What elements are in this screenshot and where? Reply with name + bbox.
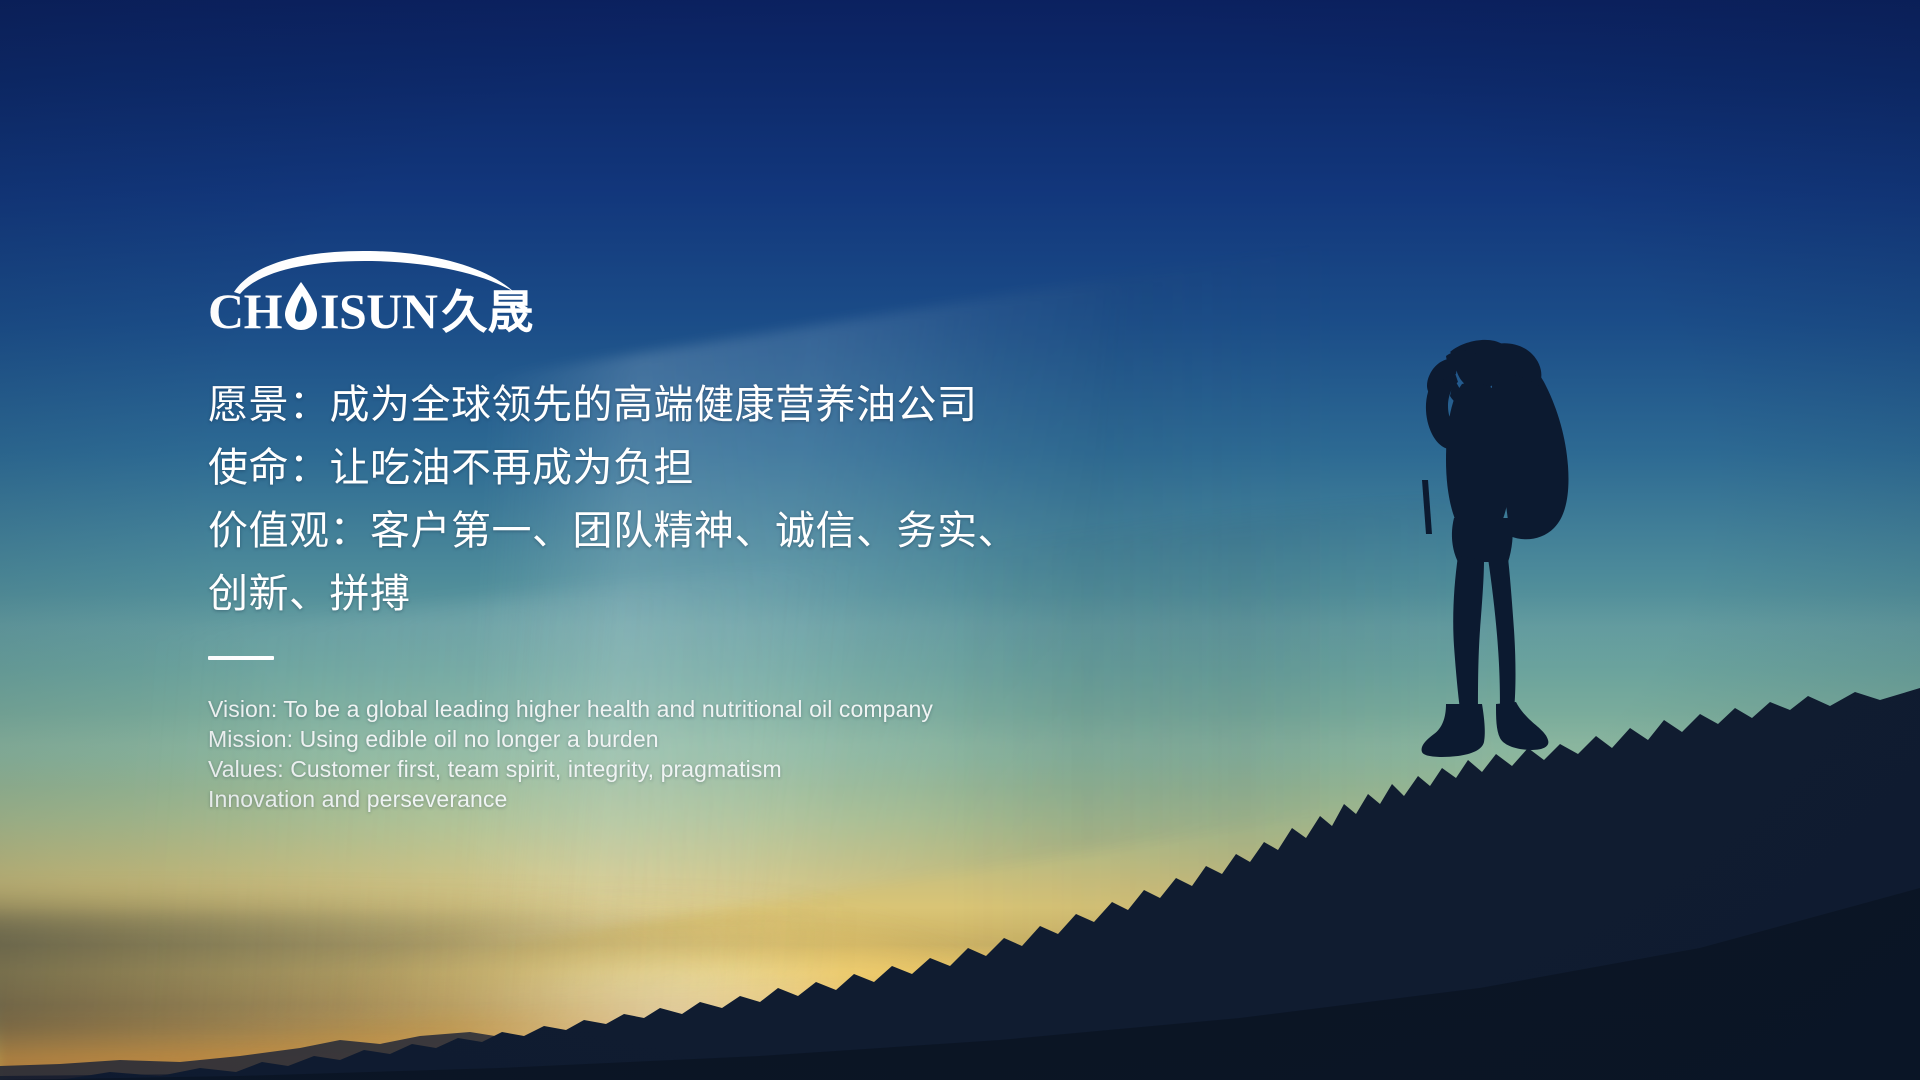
chinese-statement: 愿景：成为全球领先的高端健康营养油公司 使命：让吃油不再成为负担 价值观：客户第… bbox=[208, 374, 1068, 626]
logo-text-prefix: CH bbox=[208, 286, 282, 336]
mission-line-en: Mission: Using edible oil no longer a bu… bbox=[208, 724, 1108, 754]
logo-text-suffix: ISUN bbox=[320, 286, 437, 336]
mission-line-cn: 使命：让吃油不再成为负担 bbox=[208, 437, 1068, 500]
values-line-cn-continued: 创新、拼搏 bbox=[208, 563, 1068, 626]
oil-droplet-shape bbox=[283, 281, 319, 331]
values-line-cn: 价值观：客户第一、团队精神、诚信、务实、 bbox=[208, 500, 1068, 563]
hiker-silhouette-shape bbox=[1396, 338, 1601, 770]
logo-chinese-name: 久晟 bbox=[441, 290, 533, 336]
values-line-en: Values: Customer first, team spirit, int… bbox=[208, 754, 1108, 784]
slide-canvas: CH ISUN 久晟 愿景：成为全球领先的高端健康营养油公司 使命：让吃油不再成… bbox=[0, 0, 1920, 1080]
brand-logo[interactable]: CH ISUN 久晟 bbox=[208, 250, 548, 338]
vision-line-cn: 愿景：成为全球领先的高端健康营养油公司 bbox=[208, 374, 1068, 437]
logo-wordmark: CH ISUN 久晟 bbox=[208, 278, 533, 334]
hiker-silhouette bbox=[1396, 338, 1601, 770]
vision-line-en: Vision: To be a global leading higher he… bbox=[208, 694, 1108, 724]
english-statement: Vision: To be a global leading higher he… bbox=[208, 694, 1108, 814]
oil-droplet-icon bbox=[283, 281, 319, 331]
innovation-line-en: Innovation and perseverance bbox=[208, 784, 1108, 814]
content-block: CH ISUN 久晟 愿景：成为全球领先的高端健康营养油公司 使命：让吃油不再成… bbox=[208, 250, 1108, 814]
section-divider bbox=[208, 656, 274, 660]
